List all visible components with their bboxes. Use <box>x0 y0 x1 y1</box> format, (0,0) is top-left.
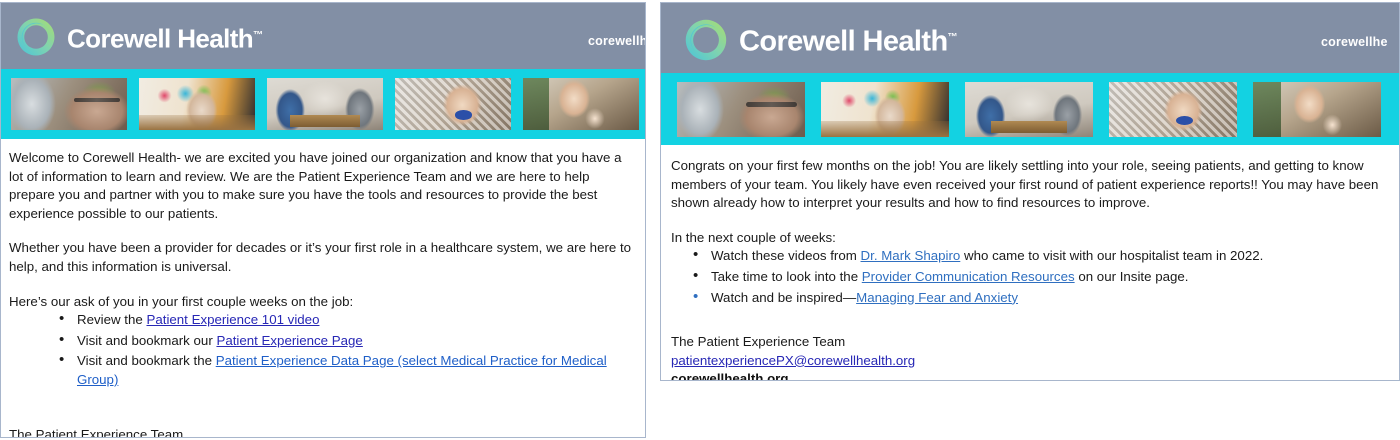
right-signature-team: The Patient Experience Team <box>671 333 1387 352</box>
left-brand-lockup: Corewell Health™ <box>15 15 262 60</box>
photo-chemo-celebration-sign <box>139 78 255 130</box>
right-masthead-url[interactable]: corewellhe <box>1321 35 1399 49</box>
right-email-panel: Corewell Health™ corewellhe Congrats on … <box>660 2 1400 381</box>
photo-smiling-woman <box>523 78 639 130</box>
corewell-ring-logo-icon <box>15 16 57 58</box>
link-managing-fear-and-anxiety[interactable]: Managing Fear and Anxiety <box>856 290 1018 305</box>
right-signature-website[interactable]: corewellhealth.org <box>671 370 1387 381</box>
left-photo-strip <box>1 69 645 139</box>
right-brand-lockup: Corewell Health™ <box>683 15 957 65</box>
list-item: Watch these videos from Dr. Mark Shapiro… <box>711 247 1387 266</box>
right-signature-email: patientexperiencePX@corewellhealth.org <box>671 352 1387 371</box>
link-dr-mark-shapiro[interactable]: Dr. Mark Shapiro <box>861 248 961 263</box>
list-item: Visit and bookmark the Patient Experienc… <box>77 352 637 389</box>
left-paragraph-1: Welcome to Corewell Health- we are excit… <box>9 149 637 223</box>
left-masthead-url[interactable]: corewellh <box>588 34 645 48</box>
photo-child-with-toy <box>1109 82 1237 137</box>
bullet-text-suffix: on our Insite page. <box>1075 269 1189 284</box>
left-signature-team: The Patient Experience Team <box>9 426 637 438</box>
left-spacer <box>9 392 637 420</box>
left-bullet-list: Review the Patient Experience 101 video … <box>9 311 637 389</box>
right-paragraph-2: In the next couple of weeks: <box>671 229 1387 248</box>
right-bullet-list: Watch these videos from Dr. Mark Shapiro… <box>671 247 1387 307</box>
bullet-text-prefix: Review the <box>77 312 146 327</box>
left-brand-name: Corewell Health™ <box>67 15 262 60</box>
right-paragraph-1: Congrats on your first few months on the… <box>671 157 1387 213</box>
trademark-symbol: ™ <box>948 32 957 43</box>
right-photo-strip <box>661 73 1399 145</box>
list-item: Take time to look into the Provider Comm… <box>711 268 1387 287</box>
link-patient-experience-page[interactable]: Patient Experience Page <box>216 333 362 348</box>
link-patient-experience-101-video[interactable]: Patient Experience 101 video <box>146 312 319 327</box>
bullet-text-prefix: Watch these videos from <box>711 248 861 263</box>
corewell-ring-logo-icon <box>683 17 729 63</box>
photo-chemo-celebration-sign <box>821 82 949 137</box>
list-item: Visit and bookmark our Patient Experienc… <box>77 332 637 351</box>
left-body-copy: Welcome to Corewell Health- we are excit… <box>1 139 645 426</box>
photo-patient-with-glasses <box>677 82 805 137</box>
right-brand-name: Corewell Health™ <box>739 15 957 65</box>
photo-child-with-toy <box>395 78 511 130</box>
right-signature-block: The Patient Experience Team patientexper… <box>661 333 1399 381</box>
bullet-text-prefix: Visit and bookmark our <box>77 333 216 348</box>
list-item: Watch and be inspired—Managing Fear and … <box>711 289 1387 308</box>
link-provider-communication-resources[interactable]: Provider Communication Resources <box>862 269 1075 284</box>
bullet-text-suffix: who came to visit with our hospitalist t… <box>960 248 1263 263</box>
photo-caregiver-fist-bump <box>267 78 383 130</box>
photo-woman-with-baby <box>1253 82 1381 137</box>
left-paragraph-2: Whether you have been a provider for dec… <box>9 239 637 276</box>
right-masthead: Corewell Health™ corewellhe <box>661 3 1399 73</box>
trademark-symbol: ™ <box>253 30 262 41</box>
bullet-text-prefix: Visit and bookmark the <box>77 353 216 368</box>
photo-caregiver-fist-bump <box>965 82 1093 137</box>
right-body-copy: Congrats on your first few months on the… <box>661 145 1399 333</box>
list-item: Review the Patient Experience 101 video <box>77 311 637 330</box>
right-spacer <box>671 309 1387 327</box>
bullet-text-prefix: Watch and be inspired— <box>711 290 856 305</box>
link-patient-experience-email[interactable]: patientexperiencePX@corewellhealth.org <box>671 353 915 368</box>
left-email-panel: Corewell Health™ corewellh Welcome to Co… <box>0 2 646 438</box>
bullet-text-prefix: Take time to look into the <box>711 269 862 284</box>
left-paragraph-3: Here’s our ask of you in your first coup… <box>9 293 637 312</box>
photo-patient-with-glasses <box>11 78 127 130</box>
left-masthead: Corewell Health™ corewellh <box>1 3 645 69</box>
screenshot-stage: Corewell Health™ corewellh Welcome to Co… <box>0 0 1400 440</box>
left-signature-block: The Patient Experience Team patientexper… <box>1 426 645 438</box>
